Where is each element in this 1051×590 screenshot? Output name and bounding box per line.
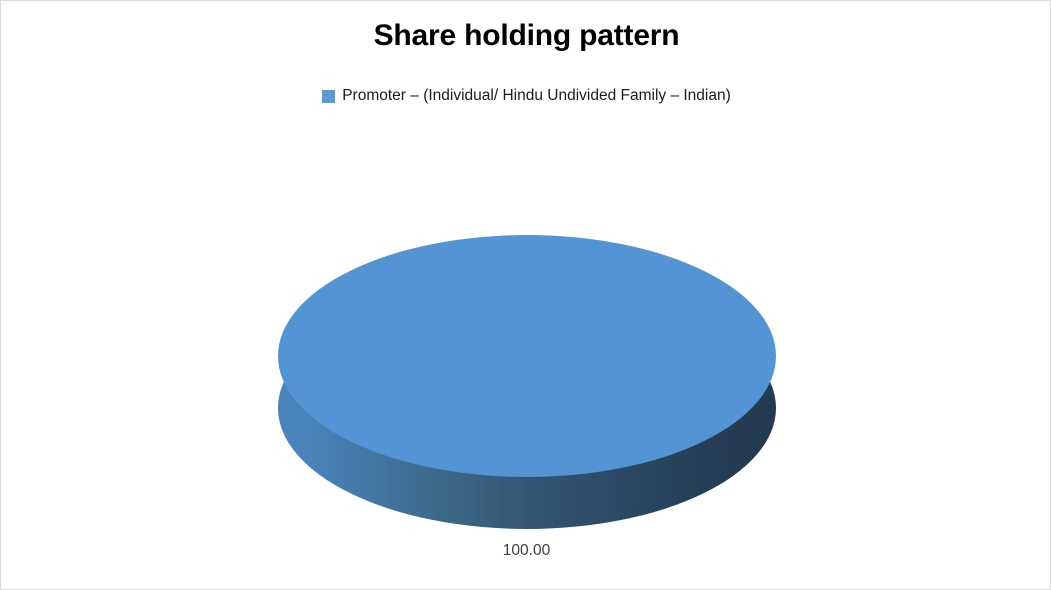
legend-item-label: Promoter – (Individual/ Hindu Undivided … [342, 87, 731, 105]
pie-slice-top-face[interactable] [278, 235, 776, 477]
chart-legend: Promoter – (Individual/ Hindu Undivided … [1, 87, 1051, 105]
legend-item-promoter-individual-huf-indian[interactable]: Promoter – (Individual/ Hindu Undivided … [322, 87, 731, 105]
chart-title: Share holding pattern [1, 19, 1051, 53]
pie-chart-3d[interactable] [278, 235, 776, 528]
pie-slice-data-label: 100.00 [1, 542, 1051, 560]
chart-canvas: Share holding pattern Promoter – (Indivi… [0, 0, 1051, 590]
square-swatch-icon [322, 90, 335, 103]
